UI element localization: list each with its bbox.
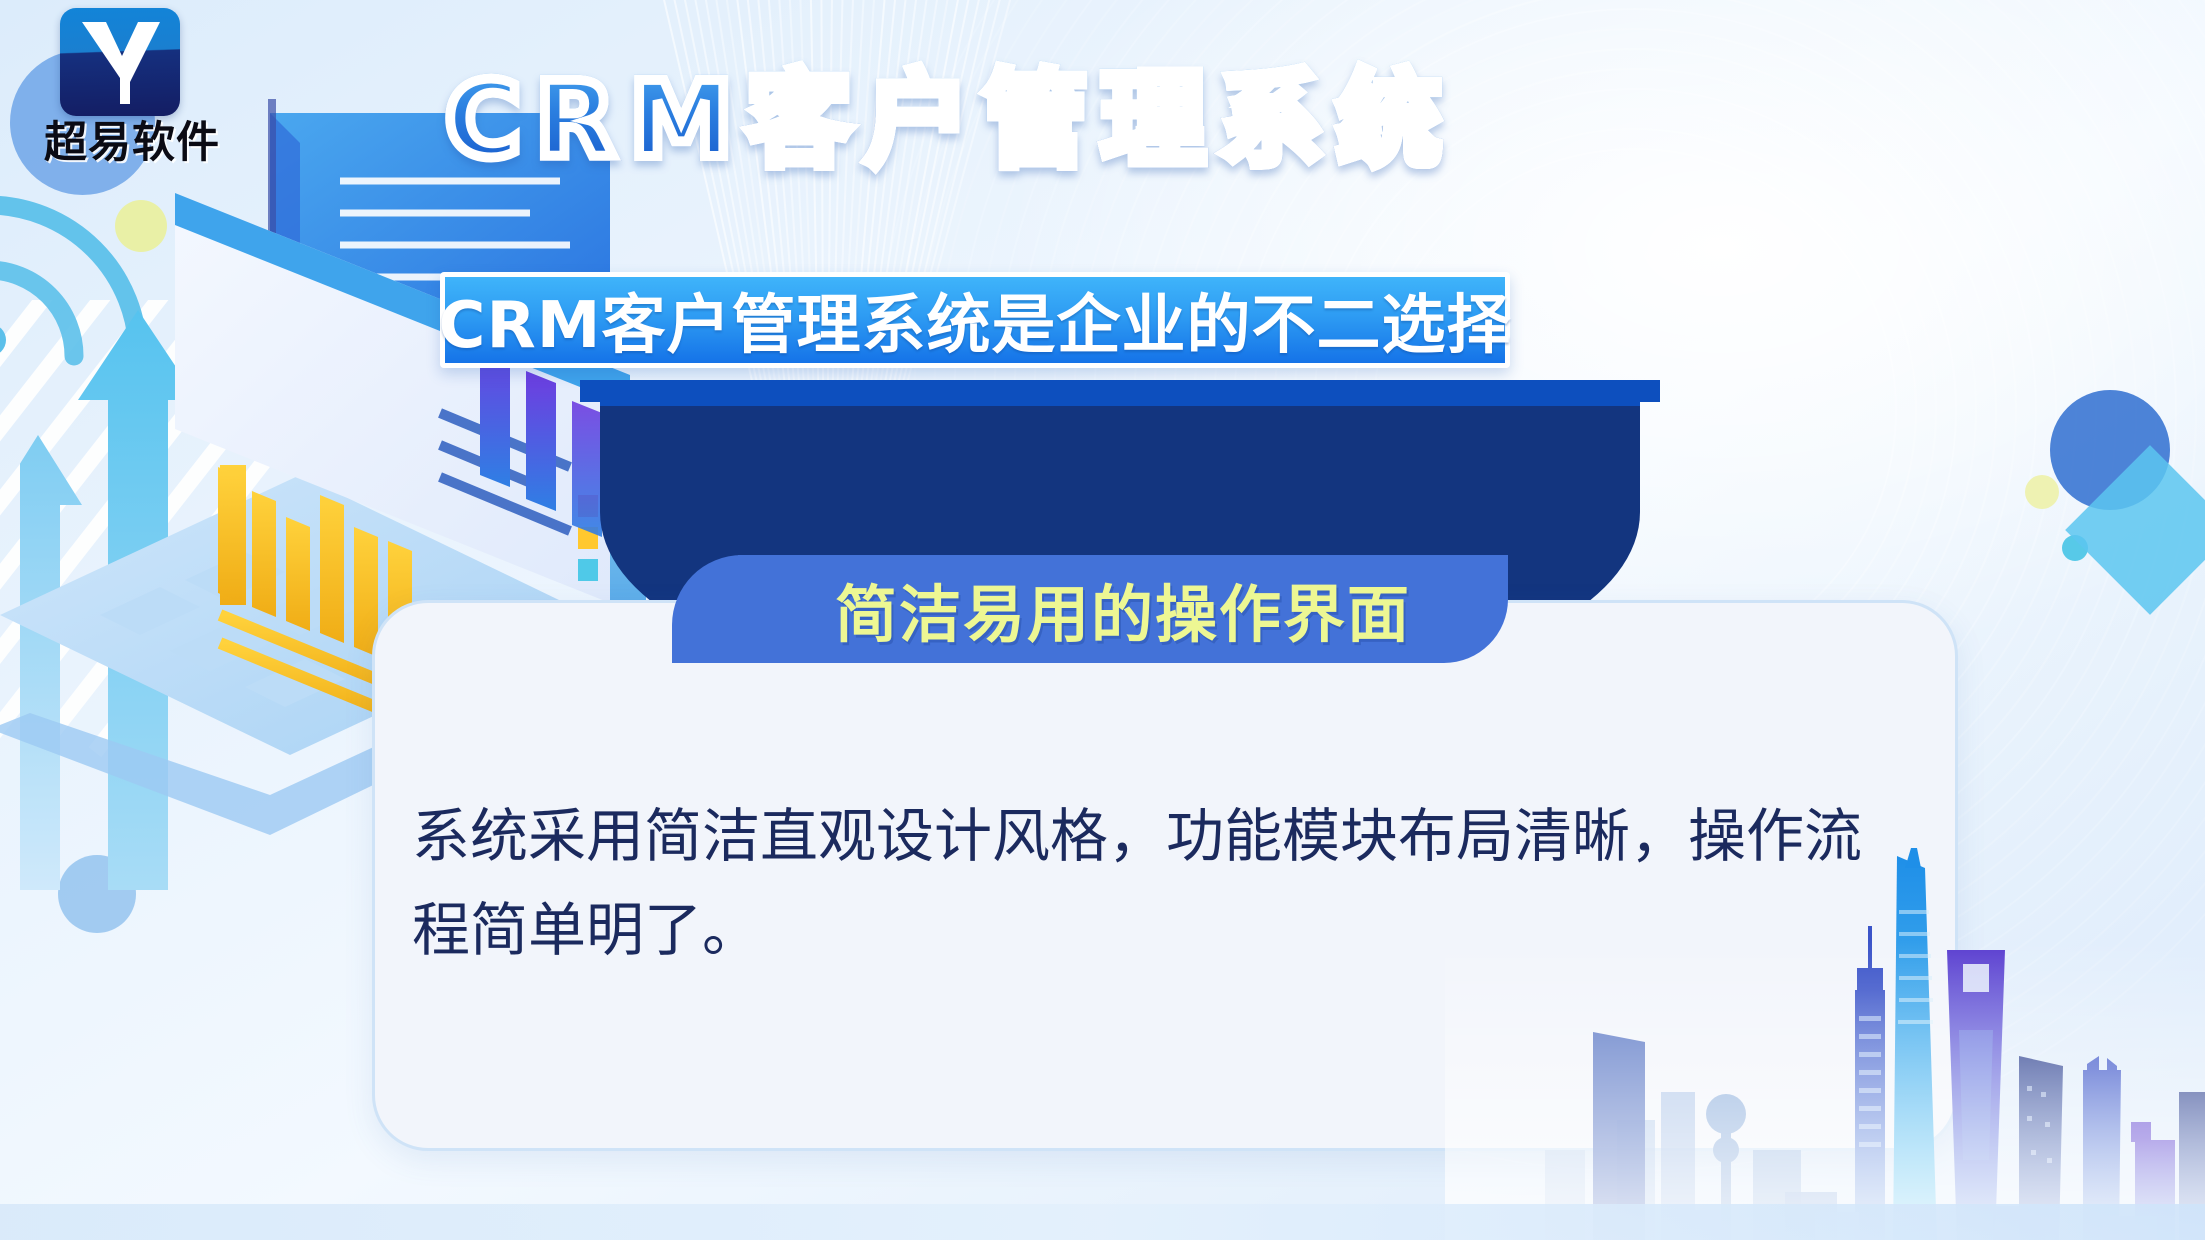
city-haze-overlay <box>1445 940 2205 1240</box>
footer-bar <box>0 1204 2205 1240</box>
blue-circle-small-decoration <box>58 855 136 933</box>
teal-dot-right-decoration <box>2062 535 2088 561</box>
feature-badge: 简洁易用的操作界面 <box>738 555 1508 663</box>
blue-circle-right-decoration <box>2050 390 2170 510</box>
page-title: CRM客户管理系统 <box>0 66 1900 175</box>
feature-badge-label: 简洁易用的操作界面 <box>835 564 1411 654</box>
subtitle-banner: CRM客户管理系统是企业的不二选择 <box>440 272 1510 368</box>
page-title-text: CRM客户管理系统 <box>445 59 1455 181</box>
diamond-right-decoration <box>2065 445 2205 615</box>
poster-canvas: 超易软件 <box>0 0 2205 1240</box>
subtitle-text: CRM客户管理系统是企业的不二选择 <box>439 274 1512 366</box>
yellow-dot-right-decoration <box>2025 475 2059 509</box>
